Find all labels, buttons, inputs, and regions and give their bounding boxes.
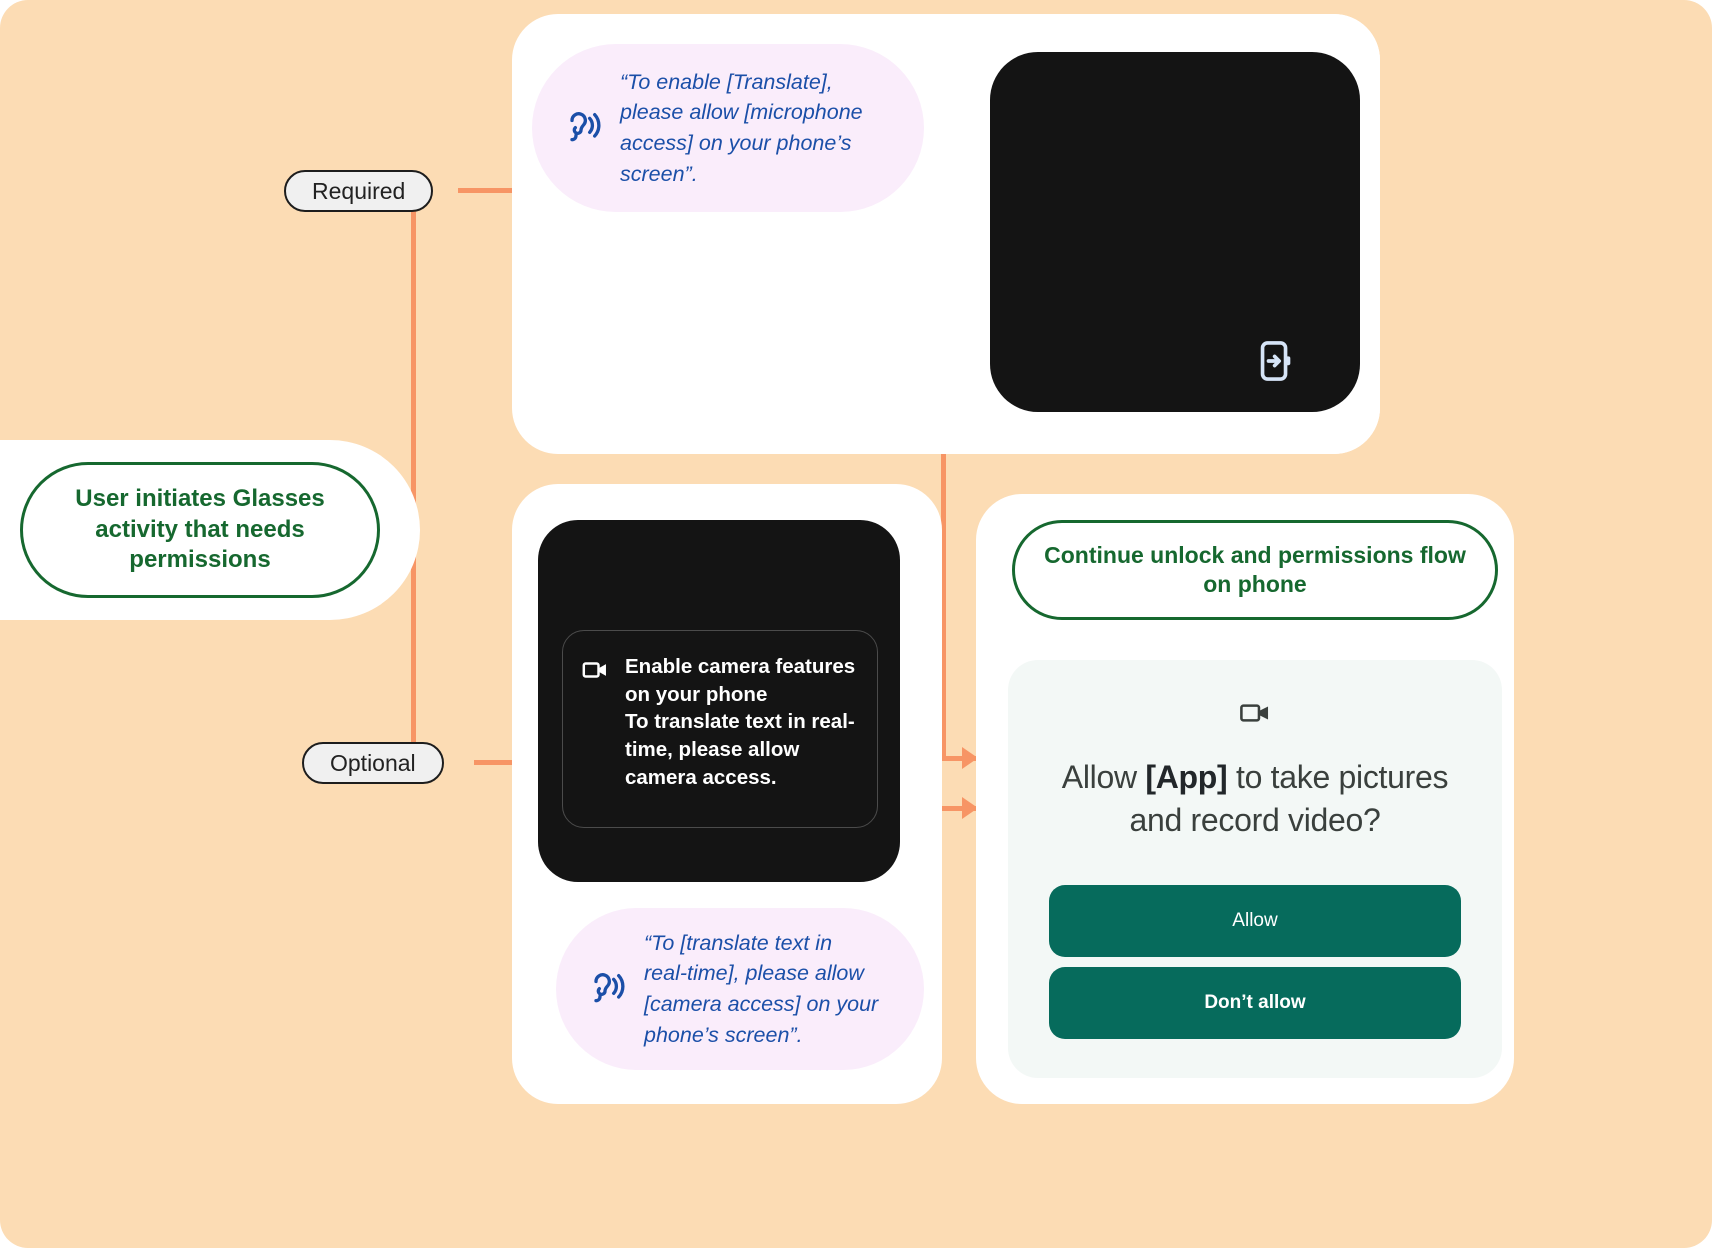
phone-unlock-icon	[1252, 338, 1298, 384]
bubble-camera-text: “To [translate text in real-time], pleas…	[644, 928, 880, 1050]
glasses-camera-body: To translate text in real-time, please a…	[625, 710, 855, 788]
video-camera-icon	[581, 656, 609, 684]
permission-question-prefix: Allow	[1062, 759, 1146, 795]
allow-button[interactable]: Allow	[1049, 885, 1461, 957]
continue-flow-node: Continue unlock and permissions flow on …	[1012, 520, 1498, 620]
permission-question-app: [App]	[1145, 759, 1227, 795]
speech-bubble-camera: “To [translate text in real-time], pleas…	[556, 908, 924, 1070]
speech-bubble-microphone: “To enable [Translate], please allow [mi…	[532, 44, 924, 212]
android-permission-dialog: Allow [App] to take pictures and record …	[1008, 660, 1502, 1078]
glasses-camera-notification: Enable camera features on your phoneTo t…	[562, 630, 878, 828]
bubble-microphone-text: “To enable [Translate], please allow [mi…	[620, 67, 880, 189]
start-node-container: User initiates Glasses activity that nee…	[0, 440, 420, 620]
video-camera-icon	[1238, 696, 1272, 730]
connector-vertical-trunk	[411, 190, 416, 762]
start-node: User initiates Glasses activity that nee…	[20, 462, 380, 598]
glasses-camera-card: Enable camera features on your phoneTo t…	[538, 520, 900, 882]
ear-hearing-icon	[586, 969, 626, 1009]
branch-badge-required[interactable]: Required	[284, 170, 433, 212]
dont-allow-button[interactable]: Don’t allow	[1049, 967, 1461, 1039]
permission-question: Allow [App] to take pictures and record …	[1038, 756, 1472, 841]
connector-required-out	[458, 188, 518, 193]
glasses-unlock-card	[990, 52, 1360, 412]
diagram-canvas: User initiates Glasses activity that nee…	[0, 0, 1712, 1248]
glasses-camera-title: Enable camera features on your phone	[625, 655, 855, 706]
branch-badge-optional[interactable]: Optional	[302, 742, 444, 784]
glasses-camera-text: Enable camera features on your phoneTo t…	[625, 653, 857, 805]
ear-hearing-icon	[562, 108, 602, 148]
